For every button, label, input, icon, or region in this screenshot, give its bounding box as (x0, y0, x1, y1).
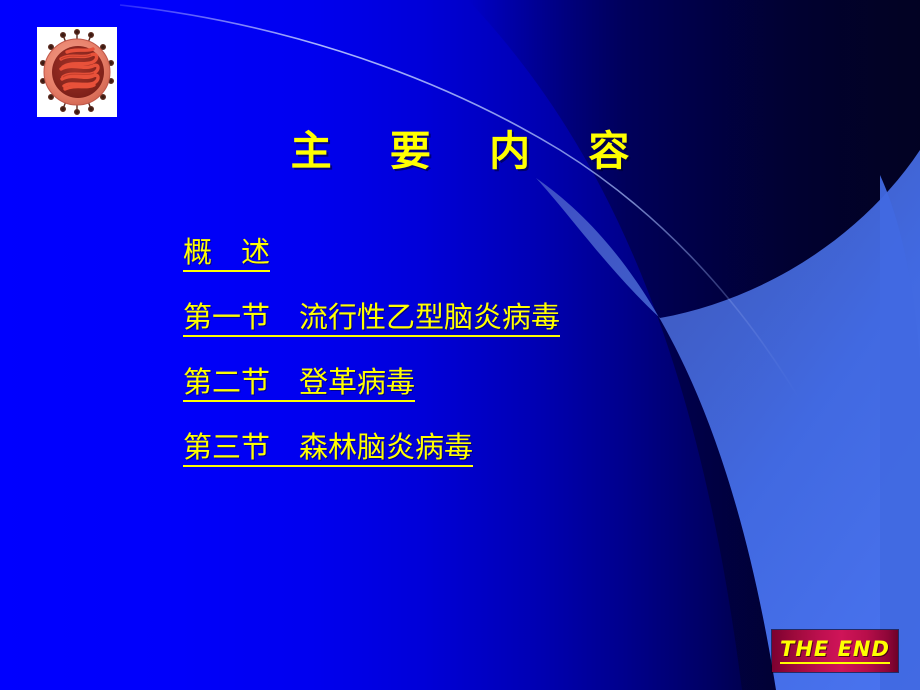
list-item-label: 第三节 森林脑炎病毒 (183, 433, 473, 467)
page-title: 主 要 内 容 (0, 128, 920, 175)
list-item-label: 概 述 (183, 238, 270, 272)
content-list: 概 述 第一节 流行性乙型脑炎病毒 第二节 登革病毒 第三节 森林脑炎病毒 (183, 238, 823, 498)
list-item[interactable]: 概 述 (183, 238, 823, 272)
presentation-slide: 主 要 内 容 概 述 第一节 流行性乙型脑炎病毒 第二节 登革病毒 第三节 森… (0, 0, 920, 690)
list-item[interactable]: 第二节 登革病毒 (183, 368, 823, 402)
the-end-button[interactable]: THE END (772, 630, 898, 672)
list-item[interactable]: 第三节 森林脑炎病毒 (183, 433, 823, 467)
list-item-label: 第一节 流行性乙型脑炎病毒 (183, 303, 560, 337)
background-swoosh-edge (880, 175, 920, 690)
virus-image (37, 27, 117, 117)
list-item-label: 第二节 登革病毒 (183, 368, 415, 402)
the-end-label: THE END (780, 639, 890, 664)
list-item[interactable]: 第一节 流行性乙型脑炎病毒 (183, 303, 823, 337)
